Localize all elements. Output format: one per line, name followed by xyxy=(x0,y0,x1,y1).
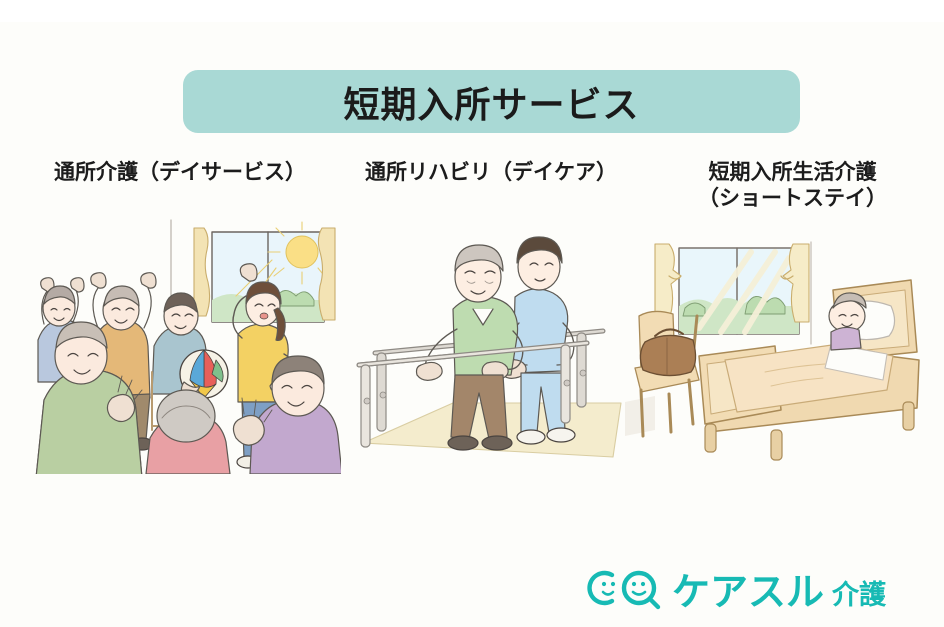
brand-logo[interactable]: ケアスル 介護 xyxy=(584,560,934,616)
logo-suffix: 介護 xyxy=(832,573,886,612)
title-banner: 短期入所サービス xyxy=(183,70,800,133)
column-heading-short-stay-line2: （ショートステイ） xyxy=(645,186,940,212)
slide-canvas: 短期入所サービス 通所介護（デイサービス） 通所リハビリ（デイケア） 短期入所生… xyxy=(0,0,944,627)
logo-wordmark: ケアスル xyxy=(672,561,824,616)
column-heading-day-service: 通所介護（デイサービス） xyxy=(20,160,340,186)
top-white-strip xyxy=(0,0,944,22)
illustration-day-service-group-exercise xyxy=(26,212,341,474)
two-smiling-faces-icon xyxy=(584,566,668,610)
column-heading-short-stay: 短期入所生活介護 （ショートステイ） xyxy=(645,160,940,211)
column-heading-short-stay-line1: 短期入所生活介護 xyxy=(645,160,940,186)
illustration-rehabilitation-parallel-bars xyxy=(345,205,630,467)
illustration-short-stay-care-bed xyxy=(625,232,930,467)
page-title: 短期入所サービス xyxy=(343,76,639,128)
column-heading-day-care: 通所リハビリ（デイケア） xyxy=(336,160,646,186)
